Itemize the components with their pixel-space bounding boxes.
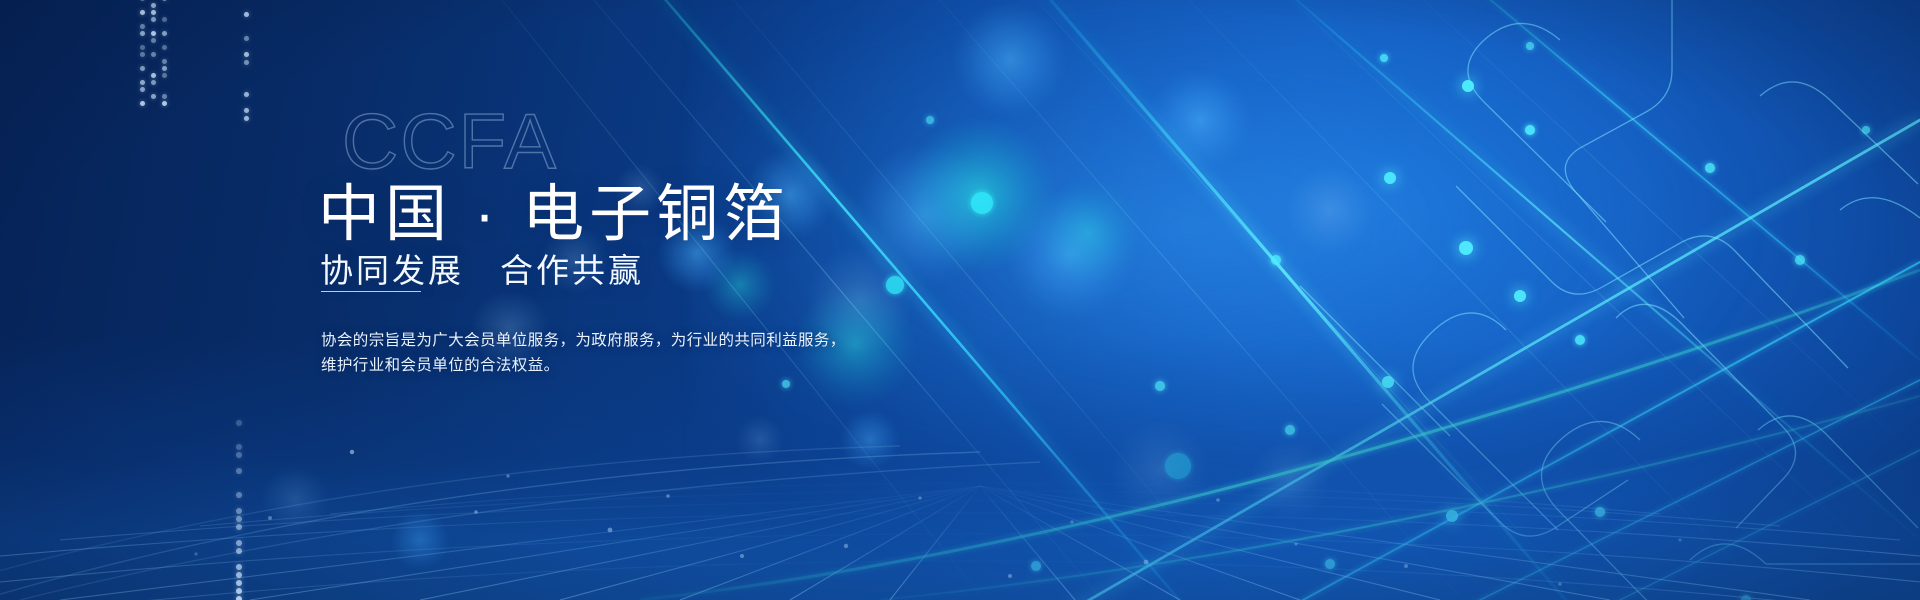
decorative-dot — [140, 101, 145, 106]
decorative-dot — [140, 52, 145, 57]
decorative-dot — [140, 24, 145, 29]
decorative-dot — [236, 572, 242, 578]
decorative-dot — [236, 508, 242, 514]
page-subtitle: 协同发展 合作共赢 — [320, 251, 644, 291]
dot-matrix-top-right — [244, 4, 264, 114]
decorative-dot — [244, 36, 249, 41]
dot-matrix-bottom-left — [236, 420, 262, 600]
decorative-dot — [244, 12, 249, 17]
decorative-dot — [151, 80, 156, 85]
decorative-dot — [236, 580, 242, 586]
banner-description: 协会的宗旨是为广大会员单位服务，为政府服务，为行业的共同利益服务， 维护行业和会… — [321, 328, 846, 378]
decorative-dot — [151, 17, 156, 22]
decorative-dot — [151, 52, 156, 57]
decorative-dot — [151, 31, 156, 36]
decorative-dot — [236, 548, 242, 554]
title-divider — [321, 291, 421, 292]
decorative-dot — [140, 66, 145, 71]
decorative-dot — [236, 420, 242, 426]
decorative-dot — [244, 92, 249, 97]
decorative-dot — [236, 468, 242, 474]
decorative-dot — [140, 10, 145, 15]
decorative-dot — [162, 59, 167, 64]
decorative-dot — [162, 94, 167, 99]
decorative-dot — [236, 444, 242, 450]
decorative-dot — [236, 540, 242, 546]
dot-matrix-top-left — [138, 0, 228, 106]
decorative-dot — [162, 0, 167, 1]
decorative-dot — [162, 73, 167, 78]
decorative-dot — [162, 31, 167, 36]
decorative-dot — [140, 0, 145, 1]
background-vignette — [0, 0, 1920, 600]
decorative-dot — [236, 596, 242, 600]
decorative-dot — [236, 452, 242, 458]
decorative-dot — [244, 52, 249, 57]
description-line-1: 协会的宗旨是为广大会员单位服务，为政府服务，为行业的共同利益服务， — [321, 328, 846, 353]
decorative-dot — [140, 80, 145, 85]
decorative-dot — [151, 3, 156, 8]
decorative-dot — [236, 588, 242, 594]
description-line-2: 维护行业和会员单位的合法权益。 — [321, 353, 846, 378]
decorative-dot — [244, 60, 249, 65]
decorative-dot — [236, 564, 242, 570]
decorative-dot — [140, 31, 145, 36]
decorative-dot — [162, 45, 167, 50]
decorative-dot — [244, 116, 249, 121]
decorative-dot — [151, 73, 156, 78]
decorative-dot — [236, 516, 242, 522]
decorative-dot — [162, 17, 167, 22]
decorative-dot — [236, 524, 242, 530]
page-title: 中国 · 电子铜箔 — [318, 182, 790, 249]
decorative-dot — [244, 108, 249, 113]
decorative-dot — [162, 66, 167, 71]
hero-banner: CCFA 中国 · 电子铜箔 协同发展 合作共赢 协会的宗旨是为广大会员单位服务… — [0, 0, 1920, 600]
decorative-dot — [151, 94, 156, 99]
decorative-dot — [236, 492, 242, 498]
decorative-dot — [162, 101, 167, 106]
decorative-dot — [151, 38, 156, 43]
decorative-dot — [140, 87, 145, 92]
decorative-dot — [151, 10, 156, 15]
decorative-dot — [140, 45, 145, 50]
